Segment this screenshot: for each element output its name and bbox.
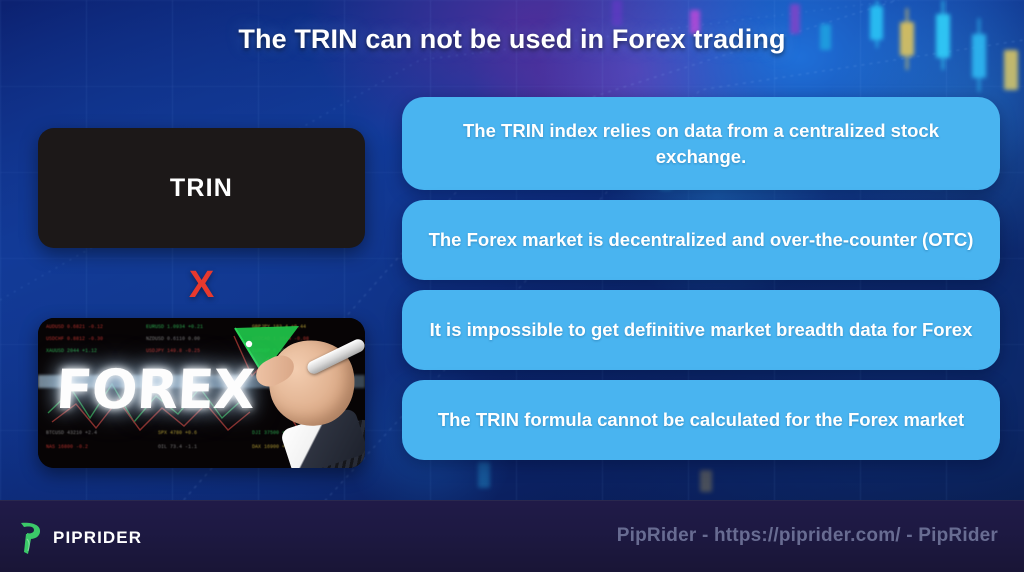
page-title: The TRIN can not be used in Forex tradin… (0, 24, 1024, 55)
concept-card-trin: TRIN (38, 128, 365, 248)
forex-overlay-word: FOREX (54, 358, 255, 421)
statements-column: The TRIN index relies on data from a cen… (402, 97, 1000, 470)
concept-card-label: TRIN (170, 174, 233, 203)
statement-box: The TRIN index relies on data from a cen… (402, 97, 1000, 190)
left-column: TRIN X AUDUSD 0.6821 -0.12 EURUSD 1.0934… (38, 128, 365, 468)
statement-text: It is impossible to get definitive marke… (430, 317, 973, 343)
statement-text: The Forex market is decentralized and ov… (429, 227, 974, 253)
statement-box: The Forex market is decentralized and ov… (402, 200, 1000, 280)
footer-credit-text: PipRider - https://piprider.com/ - PipRi… (617, 525, 998, 547)
brand-logo: PIPRIDER (18, 521, 142, 555)
x-separator-icon: X (38, 266, 365, 304)
statement-text: The TRIN index relies on data from a cen… (428, 118, 974, 169)
forex-image-card: AUDUSD 0.6821 -0.12 EURUSD 1.0934 +0.21 … (38, 318, 365, 468)
statement-text: The TRIN formula cannot be calculated fo… (438, 407, 964, 433)
hand-with-marker (241, 324, 365, 468)
piprider-logo-icon (18, 521, 44, 555)
statement-box: The TRIN formula cannot be calculated fo… (402, 380, 1000, 460)
footer-bar: PIPRIDER PipRider - https://piprider.com… (0, 500, 1024, 572)
brand-name-text: PIPRIDER (53, 528, 142, 548)
infographic-canvas: The TRIN can not be used in Forex tradin… (0, 0, 1024, 572)
statement-box: It is impossible to get definitive marke… (402, 290, 1000, 370)
